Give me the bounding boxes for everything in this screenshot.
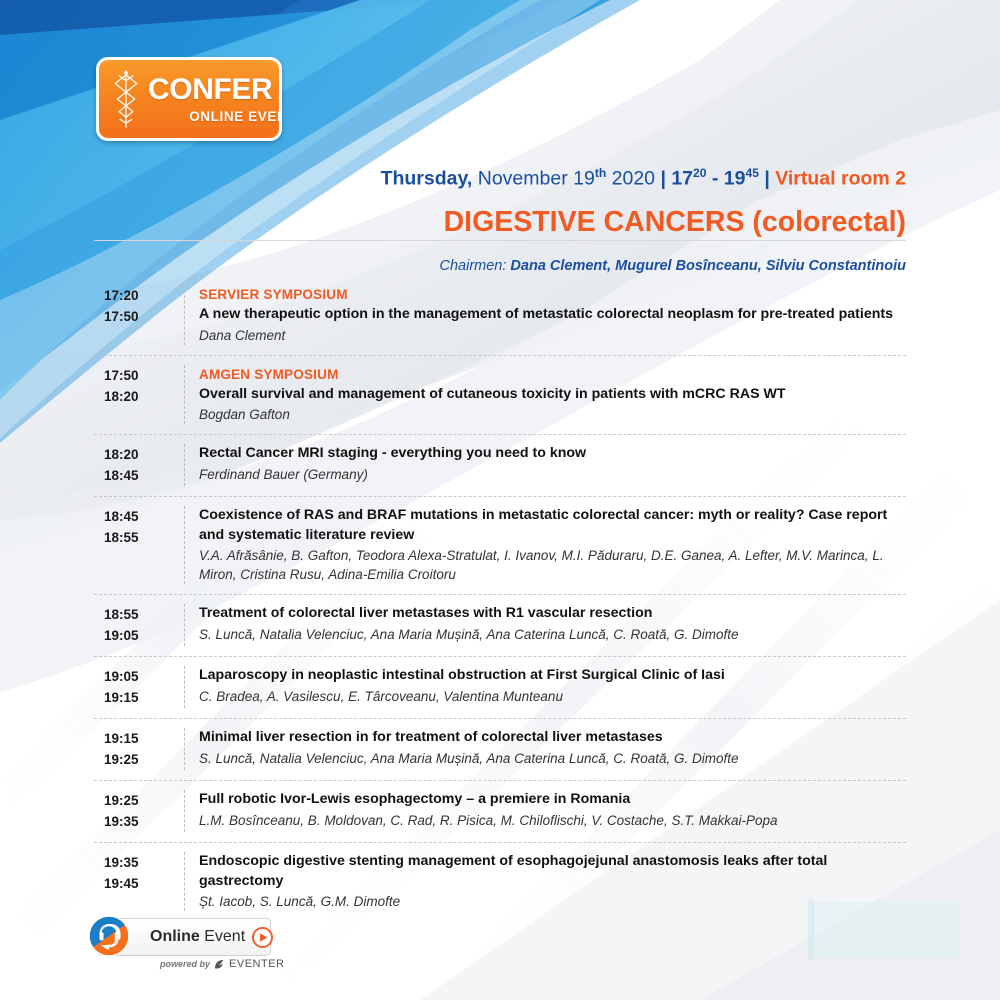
chairmen-label: Chairmen: (440, 258, 511, 274)
row-start-time: 18:55 (104, 604, 184, 625)
schedule-row[interactable]: 18:45 18:55 Coexistence of RAS and BRAF … (94, 497, 906, 595)
row-end-time: 18:55 (104, 527, 184, 548)
logo-subtitle: ONLINE EVENT (189, 109, 282, 124)
time-end-hour: 19 (724, 168, 746, 190)
logo-year: 2020 (277, 77, 282, 104)
row-end-time: 18:20 (104, 386, 184, 407)
date: November 19 (472, 168, 594, 190)
row-sponsor-label: AMGEN SYMPOSIUM (199, 365, 906, 384)
time-dash: - (706, 168, 723, 190)
row-end-time: 19:45 (104, 873, 184, 894)
row-talk-title: A new therapeutic option in the manageme… (199, 305, 906, 325)
row-end-time: 19:25 (104, 749, 184, 770)
row-talk-title: Minimal liver resection in for treatment… (199, 728, 906, 748)
schedule-row[interactable]: 19:15 19:25 Minimal liver resection in f… (94, 719, 906, 781)
row-content: SERVIER SYMPOSIUM A new therapeutic opti… (184, 285, 906, 345)
row-end-time: 19:05 (104, 625, 184, 646)
event-label: Event (200, 928, 245, 945)
session-header: Thursday, November 19th 2020 | 1720 - 19… (0, 160, 1000, 239)
eventer-name: EVENTER (229, 958, 284, 970)
row-start-time: 17:50 (104, 365, 184, 386)
powered-by-eventer: powered by EVENTER (160, 958, 284, 970)
row-content: Coexistence of RAS and BRAF mutations in… (184, 506, 906, 584)
row-time-range: 18:20 18:45 (94, 444, 184, 486)
schedule-row[interactable]: 19:05 19:15 Laparoscopy in neoplastic in… (94, 657, 906, 719)
row-time-range: 19:05 19:15 (94, 666, 184, 708)
row-end-time: 18:45 (104, 465, 184, 486)
session-schedule: 17:20 17:50 SERVIER SYMPOSIUM A new ther… (94, 276, 906, 921)
row-start-time: 19:05 (104, 666, 184, 687)
session-title: DIGESTIVE CANCERS (colorectal) (0, 206, 1000, 239)
time-start-minute: 20 (693, 166, 706, 180)
row-end-time: 17:50 (104, 306, 184, 327)
row-start-time: 17:20 (104, 285, 184, 306)
row-time-range: 18:45 18:55 (94, 506, 184, 584)
row-authors: V.A. Afrăsânie, B. Gafton, Teodora Alexa… (199, 546, 906, 584)
row-end-time: 19:35 (104, 811, 184, 832)
row-authors: S. Luncă, Natalia Velenciuc, Ana Maria M… (199, 625, 906, 644)
row-talk-title: Laparoscopy in neoplastic intestinal obs… (199, 666, 906, 686)
row-start-time: 18:45 (104, 506, 184, 527)
schedule-row[interactable]: 17:20 17:50 SERVIER SYMPOSIUM A new ther… (94, 276, 906, 356)
row-talk-title: Full robotic Ivor-Lewis esophagectomy – … (199, 790, 906, 810)
row-content: Treatment of colorectal liver metastases… (184, 604, 906, 646)
eventer-logo-icon (214, 959, 225, 970)
virtual-room: Virtual room 2 (775, 168, 906, 190)
session-datetime-line: Thursday, November 19th 2020 | 1720 - 19… (0, 160, 1000, 192)
row-authors: L.M. Bosînceanu, B. Moldovan, C. Rad, R.… (199, 811, 906, 830)
powered-by-label: powered by (160, 959, 210, 969)
headset-globe-icon (88, 915, 130, 957)
row-content: Rectal Cancer MRI staging - everything y… (184, 444, 906, 486)
schedule-row[interactable]: 19:35 19:45 Endoscopic digestive stentin… (94, 843, 906, 921)
online-label: Online (150, 928, 200, 945)
row-authors: Șt. Iacob, S. Luncă, G.M. Dimofte (199, 892, 906, 911)
weekday: Thursday, (381, 168, 473, 190)
row-start-time: 18:20 (104, 444, 184, 465)
row-time-range: 19:35 19:45 (94, 852, 184, 911)
online-event-label: Online Event (150, 928, 245, 946)
schedule-row[interactable]: 19:25 19:35 Full robotic Ivor-Lewis esop… (94, 781, 906, 843)
row-talk-title: Overall survival and management of cutan… (199, 385, 906, 405)
schedule-row[interactable]: 18:55 19:05 Treatment of colorectal live… (94, 595, 906, 657)
row-content: AMGEN SYMPOSIUM Overall survival and man… (184, 365, 906, 425)
row-start-time: 19:25 (104, 790, 184, 811)
row-content: Full robotic Ivor-Lewis esophagectomy – … (184, 790, 906, 832)
row-talk-title: Rectal Cancer MRI staging - everything y… (199, 444, 906, 464)
schedule-row[interactable]: 17:50 18:20 AMGEN SYMPOSIUM Overall surv… (94, 356, 906, 436)
row-content: Minimal liver resection in for treatment… (184, 728, 906, 770)
date-ordinal-suffix: th (595, 166, 606, 180)
row-content: Laparoscopy in neoplastic intestinal obs… (184, 666, 906, 708)
logo-name: CONFER (148, 75, 272, 105)
chairmen-names: Dana Clement, Mugurel Bosînceanu, Silviu… (510, 258, 906, 274)
row-time-range: 18:55 19:05 (94, 604, 184, 646)
row-time-range: 19:15 19:25 (94, 728, 184, 770)
confer-logo-badge: CONFER 2020 ONLINE EVENT (96, 57, 282, 141)
row-start-time: 19:15 (104, 728, 184, 749)
row-talk-title: Treatment of colorectal liver metastases… (199, 604, 906, 624)
row-end-time: 19:15 (104, 687, 184, 708)
row-talk-title: Endoscopic digestive stenting management… (199, 852, 906, 891)
row-sponsor-label: SERVIER SYMPOSIUM (199, 285, 906, 304)
slide-canvas: CONFER 2020 ONLINE EVENT Thursday, Novem… (0, 0, 1000, 1000)
row-start-time: 19:35 (104, 852, 184, 873)
header-divider (94, 240, 906, 241)
row-authors: Bogdan Gafton (199, 405, 906, 424)
separator-2: | (759, 168, 775, 190)
play-icon[interactable] (252, 927, 273, 948)
row-authors: Dana Clement (199, 326, 906, 345)
row-time-range: 17:20 17:50 (94, 285, 184, 345)
row-content: Endoscopic digestive stenting management… (184, 852, 906, 911)
date-year: 2020 (606, 168, 660, 190)
row-time-range: 17:50 18:20 (94, 365, 184, 425)
time-start-hour: 17 (671, 168, 693, 190)
row-time-range: 19:25 19:35 (94, 790, 184, 832)
row-authors: Ferdinand Bauer (Germany) (199, 465, 906, 484)
row-authors: S. Luncă, Natalia Velenciuc, Ana Maria M… (199, 749, 906, 768)
caduceus-icon (106, 69, 146, 129)
row-authors: C. Bradea, A. Vasilescu, E. Târcoveanu, … (199, 687, 906, 706)
time-end-minute: 45 (746, 166, 759, 180)
separator-1: | (660, 168, 671, 190)
schedule-row[interactable]: 18:20 18:45 Rectal Cancer MRI staging - … (94, 435, 906, 497)
chairmen-line: Chairmen: Dana Clement, Mugurel Bosîncea… (0, 258, 1000, 274)
row-talk-title: Coexistence of RAS and BRAF mutations in… (199, 506, 906, 545)
